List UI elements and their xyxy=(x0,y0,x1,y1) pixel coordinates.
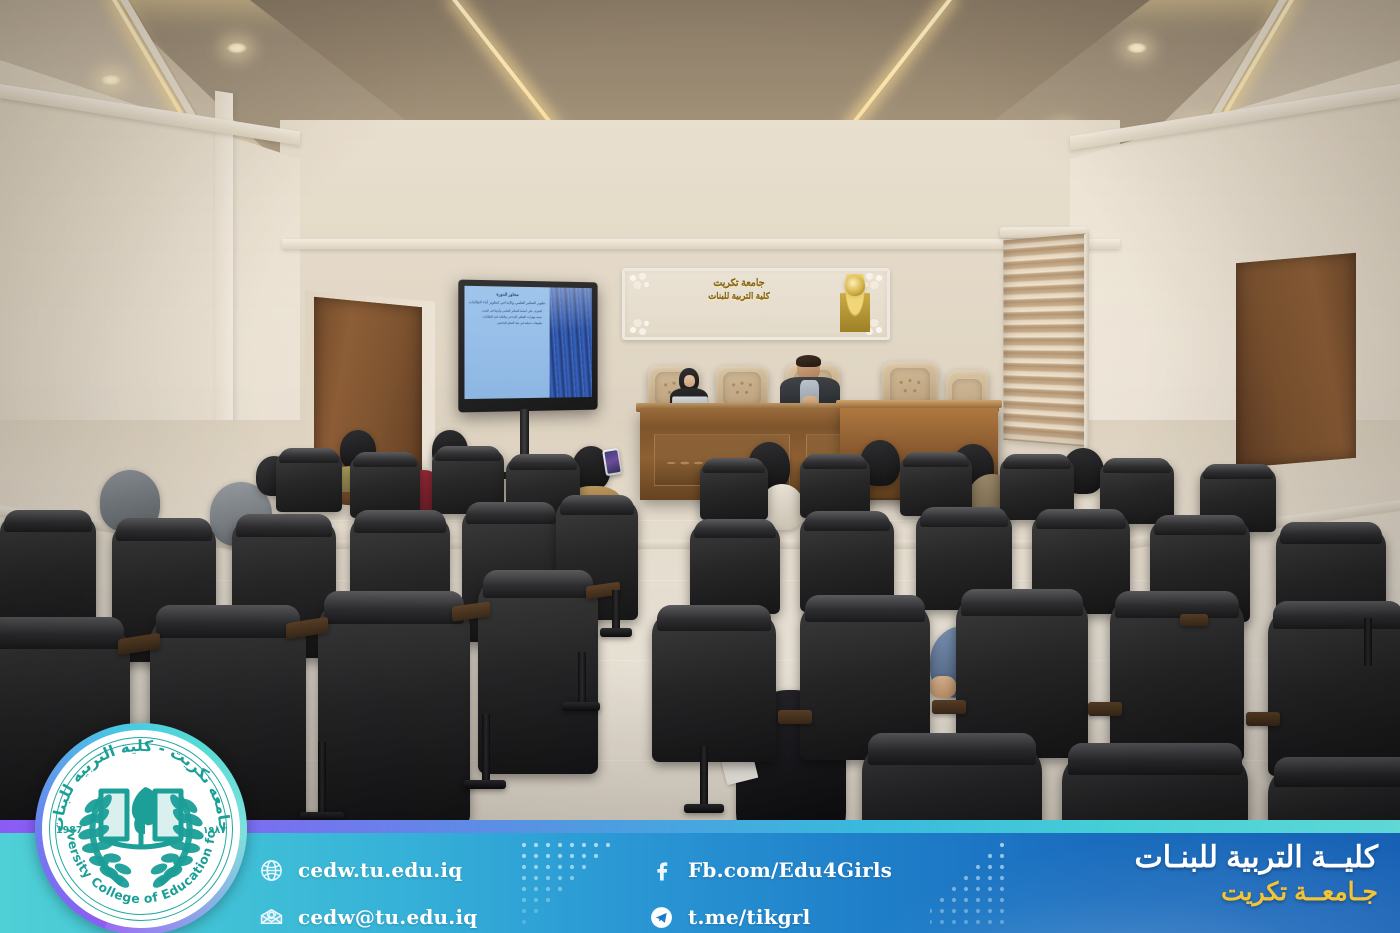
facebook-handle: Fb.com/Edu4Girls xyxy=(688,858,892,882)
seat-headrest xyxy=(1154,515,1246,535)
seat-headrest xyxy=(156,605,300,638)
college-name-arabic: كليــة التربية للبنـات xyxy=(1048,840,1378,877)
crown-molding-back xyxy=(282,239,1120,249)
university-name-arabic: جـامعــة تكريت xyxy=(1048,877,1378,908)
seat-headrest xyxy=(961,589,1083,616)
wall-plaque: جامعة تكريت كلية التربية للبنات xyxy=(622,268,890,340)
screenshot-root: محاور الدورة تطوير التفكير العلمي والإبد… xyxy=(0,0,1400,933)
seat-foot xyxy=(464,780,506,789)
presentation-display[interactable]: محاور الدورة تطوير التفكير العلمي والإبد… xyxy=(458,280,597,413)
attendee-hand xyxy=(930,676,956,698)
contact-facebook[interactable]: Fb.com/Edu4Girls xyxy=(648,857,892,883)
email-address: cedw@tu.edu.iq xyxy=(298,905,477,929)
seat-headrest xyxy=(466,502,556,524)
footer-dot-pattern-right xyxy=(930,840,1050,928)
window-frame-edge xyxy=(1084,234,1089,448)
footer-dot-pattern-left xyxy=(518,840,638,928)
auditorium-seat[interactable] xyxy=(350,456,420,518)
footer-banner: cedw.tu.edu.iq cedw@tu.edu.iq xyxy=(0,820,1400,933)
ceiling-downlight xyxy=(100,74,122,86)
seat-headrest xyxy=(1103,458,1171,473)
seat-leg xyxy=(482,714,490,786)
slide-title: محاور الدورة xyxy=(469,291,546,298)
seat-headrest xyxy=(0,617,124,649)
seat-headrest xyxy=(920,507,1008,527)
facebook-icon xyxy=(648,857,674,883)
ceiling-downlight xyxy=(226,42,248,54)
website-url: cedw.tu.edu.iq xyxy=(298,858,462,882)
dais-right-top xyxy=(836,400,1002,408)
presenter-female-face xyxy=(684,375,695,387)
slide-bullet: تنمية مهارات التفكير الإبداعي والناقد لد… xyxy=(469,315,546,320)
laurel-wreath-icon xyxy=(66,776,216,894)
seat-headrest xyxy=(1068,743,1242,775)
email-icon xyxy=(258,904,284,930)
crest-medallion-icon xyxy=(845,276,865,296)
seat-foot xyxy=(600,628,632,637)
plaque-line-college: كلية التربية للبنات xyxy=(648,291,830,302)
seat-headrest xyxy=(703,458,765,473)
seat-headrest xyxy=(694,519,776,538)
auditorium-seat[interactable] xyxy=(690,524,780,614)
seat-headrest xyxy=(1274,757,1400,787)
seat-headrest xyxy=(279,448,339,463)
display-screen: محاور الدورة تطوير التفكير العلمي والإبد… xyxy=(464,286,591,399)
slide-bullet: تطبيقات عملية في بيئة التعلم الجامعي xyxy=(469,321,546,326)
seat-headrest xyxy=(1115,591,1239,618)
seat-headrest xyxy=(509,454,577,470)
ceiling-downlight xyxy=(1126,42,1148,54)
college-logo[interactable]: جامعة تكريت - كلية التربية للبنات Tikrit… xyxy=(35,723,247,933)
auditorium-seat-foreground[interactable] xyxy=(318,600,470,824)
dais-chair-cushion xyxy=(723,372,760,407)
globe-icon xyxy=(258,857,284,883)
seat-headrest xyxy=(560,495,634,515)
seat-headrest xyxy=(1280,522,1382,544)
seat-headrest xyxy=(868,733,1036,765)
university-crest-icon xyxy=(840,274,870,332)
contact-website[interactable]: cedw.tu.edu.iq xyxy=(258,857,462,883)
seat-headrest xyxy=(1203,464,1273,479)
telegram-icon xyxy=(648,904,674,930)
presenter-male-hair xyxy=(796,355,821,367)
zebra-window-blinds[interactable] xyxy=(1003,233,1085,446)
plaque-ornament-bl xyxy=(624,313,654,339)
seat-leg xyxy=(700,746,708,812)
phone-screen xyxy=(604,450,620,474)
seat-armrest xyxy=(932,700,966,714)
contact-email[interactable]: cedw@tu.edu.iq xyxy=(258,904,477,930)
plaque-line-university: جامعة تكريت xyxy=(648,278,830,291)
seat-leg xyxy=(578,652,586,708)
seat-headrest xyxy=(804,511,890,531)
chair-tufting xyxy=(723,372,760,407)
seat-armrest xyxy=(1246,712,1280,726)
seat-headrest xyxy=(803,454,867,469)
logo-disc: جامعة تكريت - كلية التربية للبنات Tikrit… xyxy=(42,730,240,928)
seat-headrest xyxy=(236,514,332,537)
auditorium-seat[interactable] xyxy=(800,458,870,518)
plaque-text: جامعة تكريت كلية التربية للبنات xyxy=(648,278,830,302)
seat-headrest xyxy=(116,518,212,541)
footer-arabic-title: كليــة التربية للبنـات جـامعــة تكريت xyxy=(1048,840,1378,908)
seat-leg xyxy=(1364,618,1372,666)
seat-headrest xyxy=(1036,509,1126,529)
seat-armrest xyxy=(1180,614,1208,626)
seat-leg xyxy=(318,742,326,820)
slide-subtitle: تطوير التفكير العلمي والإبداعي لتطوير أد… xyxy=(469,300,546,306)
seat-leg xyxy=(612,590,620,632)
contact-telegram[interactable]: t.me/tikgrl xyxy=(648,904,810,930)
slide-bullet: التعرف على أنماط التفكير العلمي وأثرها ف… xyxy=(469,308,546,313)
seat-headrest xyxy=(435,446,501,461)
seat-armrest xyxy=(1088,702,1122,716)
wooden-door-right[interactable] xyxy=(1236,253,1356,468)
seat-foot xyxy=(562,702,600,711)
auditorium-seat[interactable] xyxy=(1268,608,1400,776)
seat-headrest xyxy=(1273,601,1400,629)
telegram-handle: t.me/tikgrl xyxy=(688,905,810,929)
seat-headrest xyxy=(354,510,446,533)
seat-headrest xyxy=(483,570,593,598)
auditorium-seat[interactable] xyxy=(700,462,768,520)
auditorium-seat[interactable] xyxy=(276,452,342,512)
seat-headrest xyxy=(903,452,969,467)
seat-headrest xyxy=(657,605,771,631)
seat-headrest xyxy=(4,510,92,532)
seat-foot xyxy=(684,804,724,813)
seat-headrest xyxy=(1003,454,1071,469)
slide-decorative-image xyxy=(550,287,592,397)
slide-text-panel: محاور الدورة تطوير التفكير العلمي والإبد… xyxy=(464,286,549,399)
event-photo: محاور الدورة تطوير التفكير العلمي والإبد… xyxy=(0,0,1400,840)
auditorium-seat[interactable] xyxy=(1110,598,1244,762)
seat-armrest xyxy=(778,710,812,724)
seat-headrest xyxy=(353,452,417,467)
seat-headrest xyxy=(805,595,925,622)
seat-headrest xyxy=(324,591,464,624)
auditorium-seat[interactable] xyxy=(652,612,776,762)
